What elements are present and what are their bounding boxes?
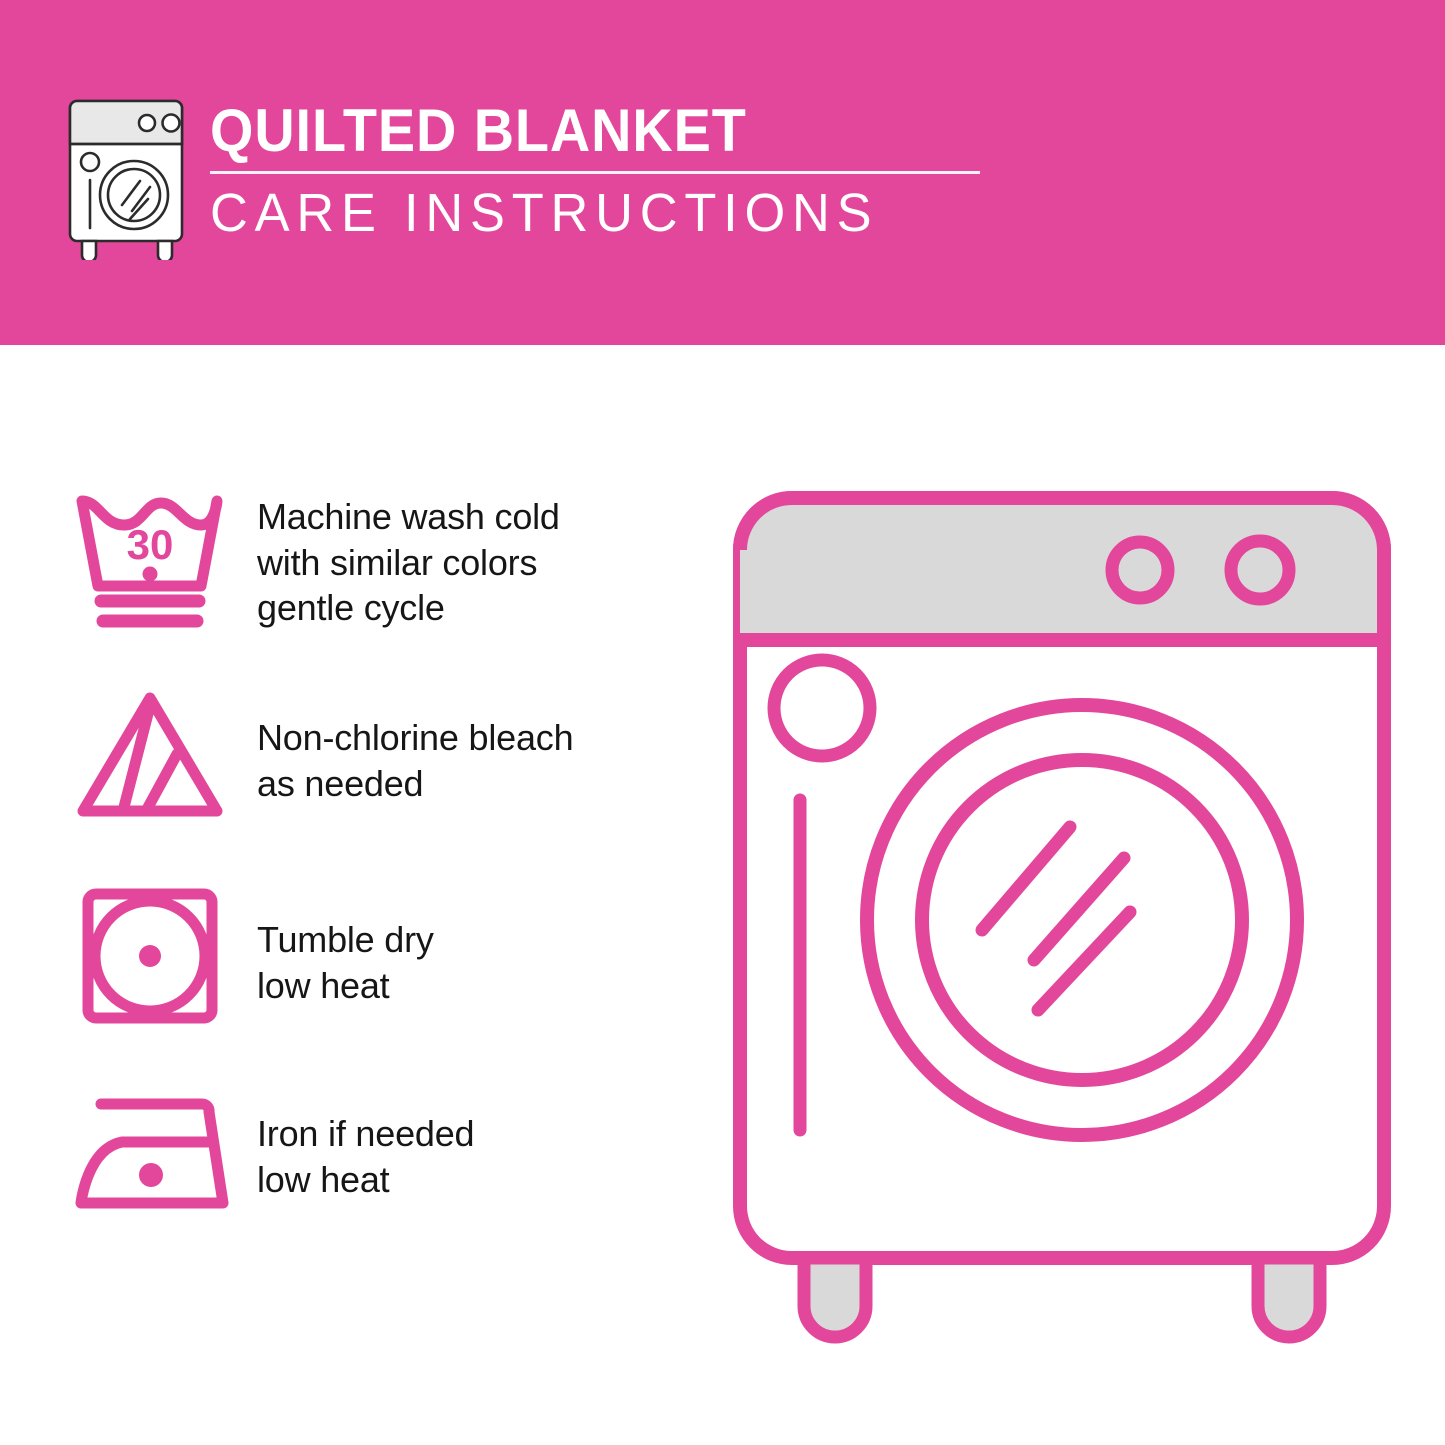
wash-tub-icon: 30 (62, 480, 237, 630)
knob-right[interactable] (1231, 541, 1289, 599)
care-row-tumble-dry: Tumble dry low heat (62, 881, 702, 1031)
care-instructions-infographic: QUILTED BLANKET CARE INSTRUCTIONS 30 (0, 0, 1445, 1445)
tumble-dry-icon (62, 881, 237, 1031)
iron-icon (62, 1081, 237, 1231)
washing-machine-icon (62, 95, 192, 260)
leg-right (1258, 1258, 1320, 1337)
header-title-group: QUILTED BLANKET CARE INSTRUCTIONS (210, 95, 980, 240)
care-instruction-list: 30 Machine wash cold with similar colors… (62, 480, 702, 1281)
page-title: QUILTED BLANKET (210, 101, 926, 161)
wash-temperature-label: 30 (126, 521, 173, 568)
care-row-bleach: Non-chlorine bleach as needed (62, 681, 702, 831)
leg-left (804, 1258, 866, 1337)
care-text-tumble-dry: Tumble dry low heat (237, 881, 702, 1008)
header-content: QUILTED BLANKET CARE INSTRUCTIONS (62, 95, 980, 260)
page-subtitle: CARE INSTRUCTIONS (210, 186, 957, 240)
care-text-bleach: Non-chlorine bleach as needed (237, 681, 702, 806)
bleach-triangle-icon (62, 681, 237, 831)
title-divider (210, 171, 980, 174)
care-row-wash: 30 Machine wash cold with similar colors… (62, 480, 702, 631)
knob-left[interactable] (1112, 542, 1168, 598)
care-text-iron: Iron if needed low heat (237, 1081, 702, 1202)
care-text-wash: Machine wash cold with similar colors ge… (237, 480, 702, 631)
header-band: QUILTED BLANKET CARE INSTRUCTIONS (0, 0, 1445, 345)
front-load-washing-machine-illustration (712, 470, 1412, 1370)
care-row-iron: Iron if needed low heat (62, 1081, 702, 1231)
